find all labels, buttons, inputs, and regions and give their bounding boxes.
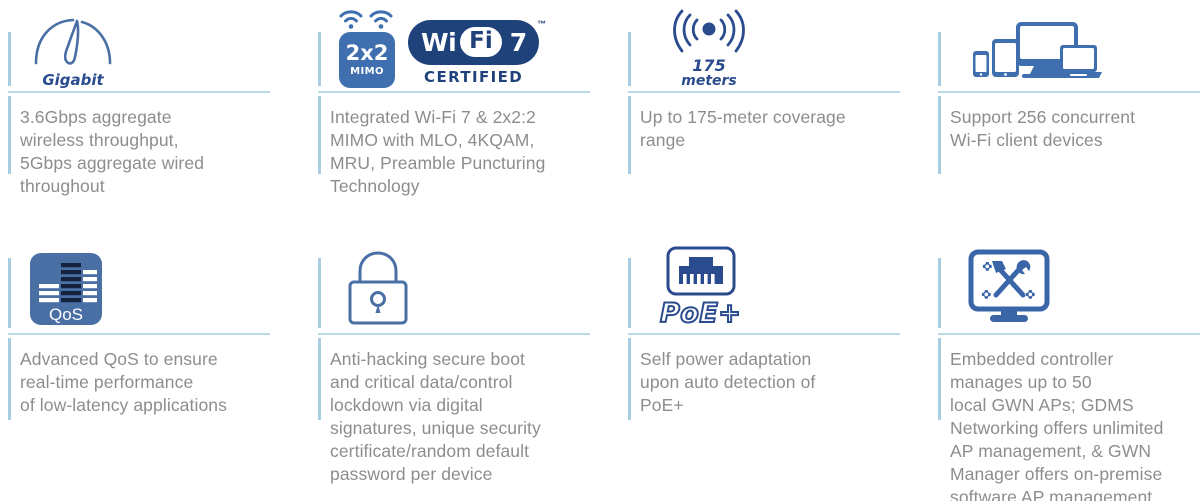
feature-card-controller: Embedded controller manages up to 50 loc… <box>930 230 1200 501</box>
wireless-coverage-range-icon: 175 meters <box>666 9 752 88</box>
icon-area <box>330 230 620 330</box>
divider-rule <box>938 91 1200 93</box>
qos-equalizer-icon: QoS <box>30 253 102 325</box>
wifi-pill: Wi Fi 7 ™ <box>408 20 539 65</box>
divider-rule <box>628 333 900 335</box>
divider-rule <box>938 333 1200 335</box>
feature-card-clients: Support 256 concurrent Wi-Fi client devi… <box>930 0 1200 230</box>
accent-rail-top <box>318 32 321 86</box>
feature-description: Self power adaptation upon auto detectio… <box>640 348 930 417</box>
accent-rail-top <box>628 32 631 86</box>
icon-area: Gigabit <box>20 0 310 88</box>
feature-description: Support 256 concurrent Wi-Fi client devi… <box>950 106 1200 152</box>
mimo-value: 2x2 <box>346 43 389 64</box>
feature-card-qos: QoS Advanced QoS to ensure real-time per… <box>0 230 310 501</box>
speedometer-gigabit-icon: Gigabit <box>30 13 116 88</box>
feature-description: Advanced QoS to ensure real-time perform… <box>20 348 310 417</box>
multi-device-clients-icon <box>970 18 1102 82</box>
icon-area <box>950 0 1200 88</box>
padlock-security-icon <box>344 250 412 326</box>
accent-rail-top <box>8 258 11 328</box>
rj45-poe-plus-icon: PoE+ <box>660 246 741 329</box>
embedded-controller-monitor-icon <box>968 249 1050 325</box>
feature-card-wifi7: 2x2 MIMO Wi Fi 7 ™ CERTIFIED Integrated … <box>310 0 620 230</box>
feature-card-gigabit: Gigabit 3.6Gbps aggregate wireless throu… <box>0 0 310 230</box>
accent-rail-bottom <box>628 338 631 420</box>
accent-rail-bottom <box>938 338 941 420</box>
accent-rail-bottom <box>318 338 321 420</box>
accent-rail-bottom <box>318 96 321 174</box>
wifi-generation: 7 <box>508 30 527 55</box>
divider-rule <box>8 91 270 93</box>
feature-card-security: Anti-hacking secure boot and critical da… <box>310 230 620 501</box>
accent-rail-bottom <box>628 96 631 174</box>
icon-area: QoS <box>20 230 310 330</box>
feature-description: Anti-hacking secure boot and critical da… <box>330 348 620 486</box>
accent-rail-top <box>628 258 631 328</box>
svg-text:QoS: QoS <box>49 305 83 324</box>
icon-label: Gigabit <box>42 73 103 88</box>
icon-area <box>950 230 1200 330</box>
mimo-badge: 2x2 MIMO <box>339 32 395 88</box>
accent-rail-top <box>8 32 11 86</box>
dual-wifi-waves-icon <box>338 8 396 30</box>
accent-rail-top <box>938 258 941 328</box>
icon-label: PoE+ <box>660 298 741 329</box>
divider-rule <box>318 91 590 93</box>
feature-grid: Gigabit 3.6Gbps aggregate wireless throu… <box>0 0 1200 501</box>
mimo-label: MIMO <box>350 67 384 77</box>
wifi-certified-label: CERTIFIED <box>424 68 523 86</box>
wifi-certified-logo: Wi Fi 7 ™ CERTIFIED <box>408 20 539 86</box>
feature-card-poe: PoE+ Self power adaptation upon auto det… <box>620 230 930 501</box>
wifi-word: Wi <box>421 30 456 55</box>
feature-card-coverage: 175 meters Up to 175-meter coverage rang… <box>620 0 930 230</box>
feature-description: Embedded controller manages up to 50 loc… <box>950 348 1200 501</box>
wifi-fi-oval: Fi <box>458 25 504 59</box>
accent-rail-bottom <box>938 96 941 174</box>
feature-description: Up to 175-meter coverage range <box>640 106 930 152</box>
icon-area: 175 meters <box>640 0 930 88</box>
trademark-icon: ™ <box>537 19 546 29</box>
divider-rule <box>8 333 270 335</box>
divider-rule <box>628 91 900 93</box>
icon-label-unit: meters <box>681 74 737 88</box>
accent-rail-top <box>318 258 321 328</box>
wifi7-certified-2x2-mimo-icon: 2x2 MIMO Wi Fi 7 ™ CERTIFIED <box>338 8 539 88</box>
feature-description: 3.6Gbps aggregate wireless throughput, 5… <box>20 106 310 198</box>
icon-label-value: 175 <box>692 58 725 74</box>
feature-description: Integrated Wi-Fi 7 & 2x2:2 MIMO with MLO… <box>330 106 620 198</box>
icon-area: PoE+ <box>640 230 930 330</box>
divider-rule <box>318 333 590 335</box>
icon-area: 2x2 MIMO Wi Fi 7 ™ CERTIFIED <box>330 0 620 88</box>
accent-rail-bottom <box>8 96 11 174</box>
accent-rail-bottom <box>8 338 11 420</box>
accent-rail-top <box>938 32 941 86</box>
